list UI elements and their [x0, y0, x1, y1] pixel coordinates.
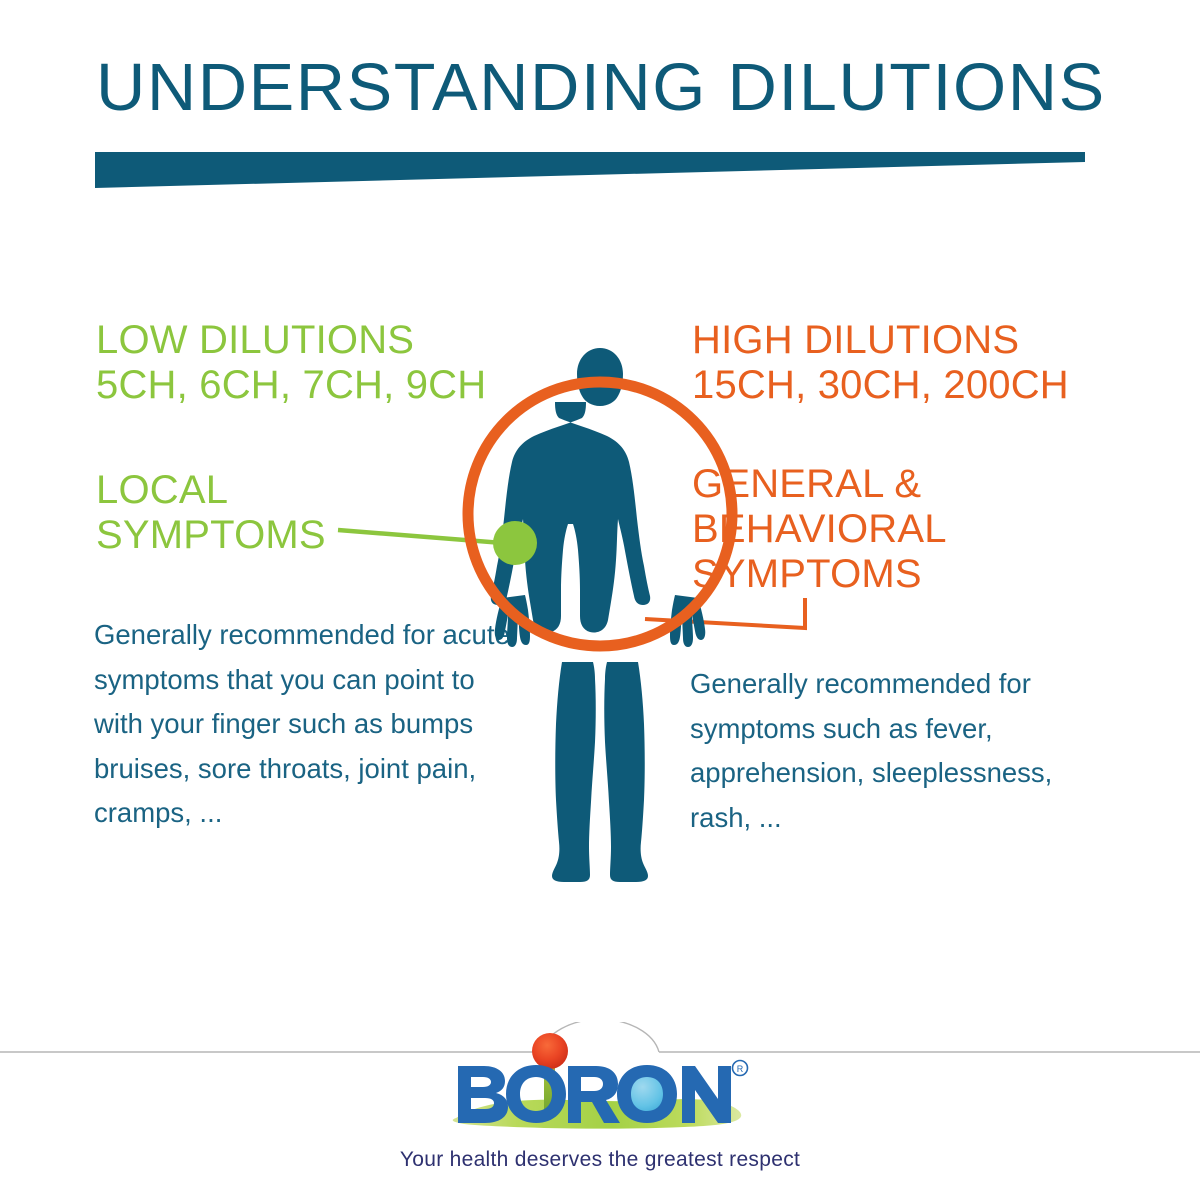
local-symptom-marker — [493, 521, 537, 565]
page-title: UNDERSTANDING DILUTIONS — [96, 54, 1126, 121]
local-symptoms-heading: LOCAL SYMPTOMS — [96, 468, 326, 558]
low-dilutions-heading: LOW DILUTIONS 5CH, 6CH, 7CH, 9CH — [96, 318, 486, 408]
title-underline-wedge — [0, 140, 1200, 200]
brand-tagline: Your health deserves the greatest respec… — [0, 1148, 1200, 1172]
svg-text:R: R — [737, 1064, 744, 1074]
registered-trademark-icon: R — [733, 1061, 748, 1076]
boiron-logo[interactable]: R — [440, 1032, 760, 1147]
infographic-poster: UNDERSTANDING DILUTIONS LOW DILUTIONS 5C… — [0, 0, 1200, 1200]
body-illustration — [440, 340, 760, 885]
poppy-flower — [532, 1033, 568, 1069]
